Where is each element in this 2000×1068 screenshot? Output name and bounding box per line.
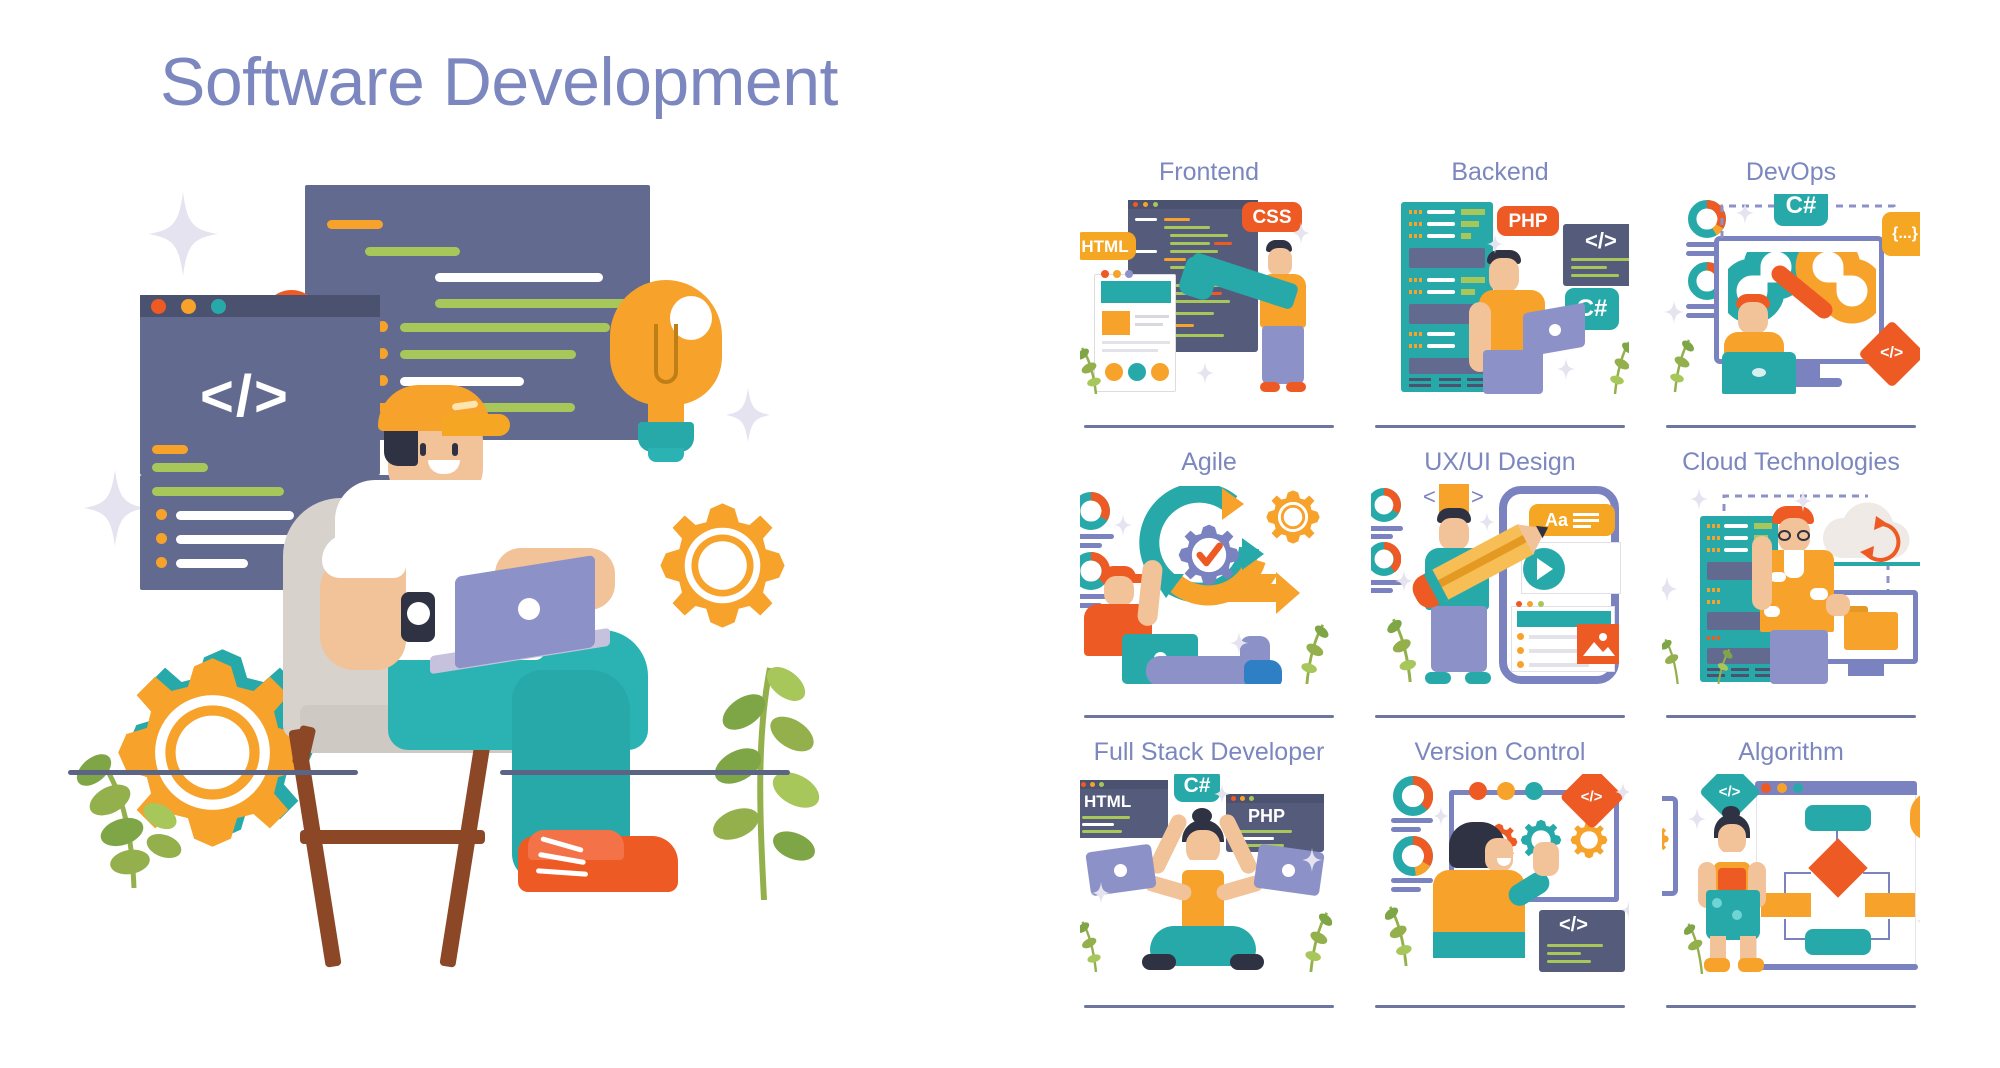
flowchart-icon: [1756, 782, 1916, 968]
cell-ux-ui-design[interactable]: UX/UI Design Aa: [1371, 450, 1629, 718]
developer-person: [1138, 808, 1278, 974]
sparkle-icon: [1690, 488, 1708, 510]
developer-person: [1423, 822, 1573, 974]
cell-devops[interactable]: DevOps: [1662, 160, 1920, 428]
ground-line: [1375, 425, 1625, 428]
plant-icon: [700, 650, 830, 900]
cell-title-version-control: Version Control: [1371, 740, 1629, 765]
ground-line: [500, 770, 790, 775]
sparkle-icon: [1230, 632, 1248, 654]
developer-person: [1246, 240, 1326, 392]
sparkle-icon: [1292, 222, 1310, 244]
sparkle-icon: [1688, 808, 1706, 830]
lightbulb-icon: [610, 280, 730, 480]
sparkle-icon: [1794, 490, 1812, 512]
page-title: Software Development: [160, 48, 838, 116]
plant-icon: [1286, 618, 1330, 684]
sparkle-icon: [84, 470, 146, 546]
sparkle-icon: [1479, 512, 1495, 532]
plant-icon: [1662, 634, 1694, 684]
sparkle-icon: [1433, 806, 1449, 826]
tag-php: PHP: [1497, 206, 1559, 236]
sparkle-icon: [1395, 570, 1413, 592]
tag-braces: {...}: [1882, 212, 1920, 256]
flowchart-node-start: [1805, 805, 1871, 831]
cell-title-agile: Agile: [1080, 450, 1338, 475]
tag-html: HTML: [1080, 232, 1136, 260]
flowchart-node-branch: [1865, 893, 1915, 917]
cell-version-control[interactable]: Version Control: [1371, 740, 1629, 1008]
ground-line: [68, 770, 358, 775]
image-placeholder-icon: [1577, 624, 1619, 664]
hero-illustration: </>: [0, 130, 820, 790]
chair-leg: [439, 728, 492, 968]
cell-algorithm[interactable]: Algorithm: [1662, 740, 1920, 1008]
donut-chart-icon: [1080, 492, 1110, 535]
cell-title-algorithm: Algorithm: [1662, 740, 1920, 765]
cell-title-backend: Backend: [1371, 160, 1629, 185]
developer-person: [1718, 294, 1800, 394]
ground-line: [1084, 1005, 1334, 1008]
sparkle-icon: [1302, 848, 1322, 872]
ground-line: [1084, 425, 1334, 428]
developer-cap-brim: [442, 414, 510, 436]
plant-icon: [72, 728, 192, 888]
gear-small-icon: [655, 498, 790, 633]
code-window-icon: </>: [1563, 224, 1629, 286]
cell-frontend[interactable]: Frontend: [1080, 160, 1338, 428]
developer-person: [1084, 560, 1284, 684]
bracket-right-icon: >: [1471, 484, 1484, 510]
code-glyph: </>: [200, 363, 290, 430]
sparkle-icon: [1557, 358, 1575, 380]
plant-icon: [1387, 612, 1431, 682]
wristwatch-face: [407, 602, 430, 625]
developer-sleeve: [322, 534, 406, 578]
cell-title-devops: DevOps: [1662, 160, 1920, 185]
ground-line: [1666, 715, 1916, 718]
sparkle-icon: [1615, 782, 1629, 802]
ground-line: [1666, 1005, 1916, 1008]
plant-icon: [1292, 906, 1332, 972]
laptop-logo: [518, 598, 540, 620]
ground-line: [1666, 425, 1916, 428]
developer-eye: [452, 443, 458, 456]
gear-icon: [1264, 488, 1322, 546]
chair-crossbar: [300, 830, 485, 844]
donut-chart-icon: [1393, 776, 1433, 821]
developer-person: [1469, 250, 1565, 394]
cell-title-full-stack: Full Stack Developer: [1080, 740, 1338, 765]
image-placeholder-icon: [1102, 311, 1130, 335]
plant-icon: [1662, 334, 1696, 392]
developer-person: [1756, 506, 1858, 684]
plant-icon: [1684, 918, 1718, 974]
plant-icon: [1080, 916, 1112, 972]
glasses-icon: [1778, 530, 1812, 541]
cell-backend[interactable]: Backend: [1371, 160, 1629, 428]
plant-icon: [1080, 342, 1112, 394]
sparkle-icon: [726, 388, 770, 442]
ground-line: [1375, 715, 1625, 718]
sparkle-icon: [1664, 300, 1684, 324]
sparkle-icon: [1092, 882, 1110, 904]
topics-grid: Frontend: [1080, 160, 1920, 1020]
sparkle-icon: [1736, 202, 1754, 224]
tag-csharp: C#: [1774, 194, 1828, 226]
ground-line: [1375, 1005, 1625, 1008]
ground-line: [1084, 715, 1334, 718]
plant-icon: [1704, 640, 1734, 684]
cell-title-ux-ui: UX/UI Design: [1371, 450, 1629, 475]
developer-eye: [420, 443, 426, 456]
cell-agile[interactable]: Agile: [1080, 450, 1338, 718]
bracket-left-icon: <: [1423, 484, 1436, 510]
cell-title-cloud: Cloud Technologies: [1662, 450, 1920, 475]
sparkle-icon: [1487, 234, 1503, 254]
board-base: [1756, 964, 1918, 970]
cell-full-stack-developer[interactable]: Full Stack Developer HTML PHP: [1080, 740, 1338, 1008]
lightbulb-icon: [1910, 792, 1920, 866]
typography-label: Aa: [1545, 511, 1568, 529]
sparkle-icon: [1916, 910, 1920, 932]
tag-html: HTML: [1084, 792, 1131, 812]
gear-icon: [1662, 824, 1670, 854]
sparkle-icon: [1621, 900, 1629, 920]
donut-chart-icon: [1371, 488, 1401, 527]
sparkle-icon: [1114, 514, 1132, 536]
sparkle-icon: [1214, 784, 1230, 804]
cell-cloud-technologies[interactable]: Cloud Technologies: [1662, 450, 1920, 718]
plant-icon: [1385, 900, 1425, 966]
flowchart-node-end: [1805, 929, 1871, 955]
plant-icon: [1599, 336, 1629, 394]
cell-title-frontend: Frontend: [1080, 160, 1338, 185]
sparkle-icon: [1662, 576, 1678, 602]
code-window-front: </>: [140, 295, 380, 475]
sparkle-icon: [148, 192, 218, 276]
sparkle-icon: [1196, 362, 1214, 384]
